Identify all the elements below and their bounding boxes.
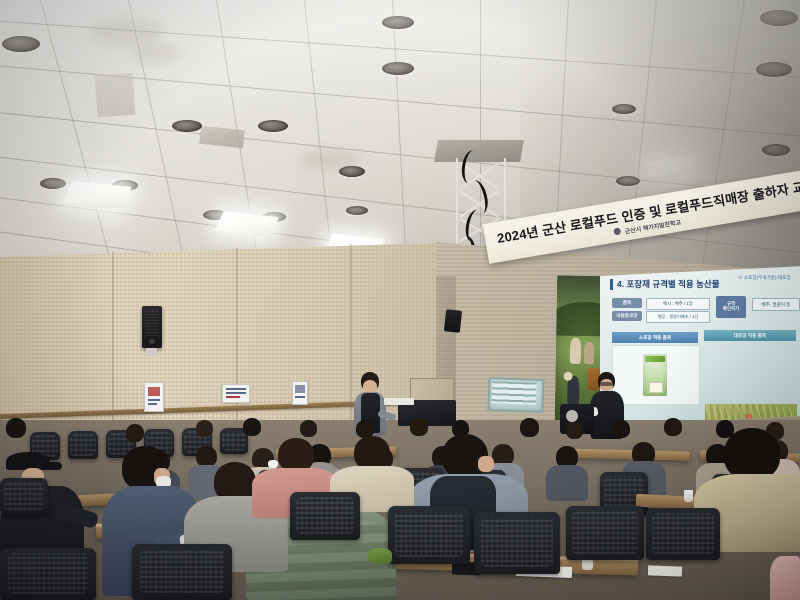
gunsan-city-emblem-icon bbox=[613, 227, 621, 235]
wall-sign-notice bbox=[222, 384, 250, 403]
slide-action-button: 규격 확인하기 bbox=[716, 296, 746, 318]
sign-text-line bbox=[226, 392, 246, 394]
chair[interactable] bbox=[566, 506, 644, 560]
downlight-icon bbox=[346, 206, 368, 215]
audience-head bbox=[243, 418, 261, 436]
sign-text-line bbox=[148, 403, 157, 405]
chair[interactable] bbox=[0, 478, 48, 514]
paper-cup[interactable] bbox=[684, 490, 693, 502]
audience-torso bbox=[546, 465, 588, 501]
bag-top-band bbox=[645, 356, 665, 362]
bag-label bbox=[649, 382, 663, 393]
speaker-bracket bbox=[146, 348, 157, 356]
speaker-tweeter-icon bbox=[149, 339, 155, 344]
slide-right-field: 배추, 얼갈이 등 bbox=[752, 298, 800, 311]
wall-sign-fire-extinguisher bbox=[144, 382, 164, 412]
photo-bagged-vegetable bbox=[643, 354, 667, 396]
piano-keys bbox=[384, 398, 414, 405]
assistant-glasses-icon bbox=[600, 382, 613, 386]
lift-rod bbox=[456, 158, 458, 254]
chair[interactable] bbox=[474, 512, 560, 574]
sign-pictogram bbox=[148, 387, 160, 396]
sign-text-line bbox=[148, 399, 160, 401]
attendee-head bbox=[354, 436, 390, 470]
wall-speaker-right bbox=[444, 309, 462, 333]
downlight-icon bbox=[40, 178, 66, 189]
panel-head-1: 대포장 적용 품목 bbox=[704, 330, 796, 341]
downlight-icon bbox=[172, 120, 202, 132]
wall-speaker bbox=[142, 306, 162, 348]
chair[interactable] bbox=[646, 508, 720, 560]
cap-brim bbox=[38, 462, 62, 470]
slide-title-row: 4. 포장재 규격별 적용 농산물 bbox=[610, 278, 720, 290]
speaker-grill bbox=[145, 310, 159, 336]
slide-tag-1: 내용량/포장 bbox=[612, 311, 642, 321]
sign-text-line bbox=[295, 396, 305, 398]
chair[interactable] bbox=[0, 548, 96, 600]
slide-title-accent bbox=[610, 279, 613, 290]
louver-vent-window bbox=[487, 377, 544, 413]
paper-handout[interactable] bbox=[648, 565, 682, 576]
slide-field-0: 예시 : 배추 / 1망 bbox=[646, 298, 710, 310]
slide-tag-0: 품목 bbox=[612, 298, 642, 308]
audience-head bbox=[6, 418, 26, 438]
wall-sign-evacuation bbox=[292, 381, 308, 405]
panel-head-0: 소포장 적용 품목 bbox=[612, 332, 698, 343]
mural-figure-head bbox=[563, 372, 572, 381]
audience-head bbox=[196, 420, 213, 437]
downlight-icon bbox=[339, 166, 365, 177]
attendee-head bbox=[724, 428, 780, 480]
audience-head bbox=[566, 422, 583, 439]
sign-text-line bbox=[226, 396, 240, 398]
attendee-arm-foreground bbox=[770, 556, 800, 600]
sign-text-line bbox=[226, 388, 246, 390]
slide-field-1: 열무 · 얼갈이배추 / 1단 bbox=[646, 311, 710, 323]
chair[interactable] bbox=[388, 506, 470, 564]
slide-note: ※ 소포장(무게기준)·대포장 bbox=[738, 275, 791, 281]
ceiling-highlight bbox=[0, 0, 800, 120]
projection-screen: 4. 포장재 규격별 적용 농산물 ※ 소포장(무게기준)·대포장 품목 내용량… bbox=[600, 266, 800, 426]
audience-head bbox=[664, 418, 682, 436]
green-item-on-table[interactable] bbox=[368, 548, 392, 564]
attendee-head bbox=[278, 438, 314, 472]
attendee-face bbox=[478, 456, 494, 472]
vent-slats bbox=[492, 381, 537, 405]
sign-pictogram bbox=[295, 385, 305, 393]
mural-figure bbox=[584, 342, 594, 364]
audience-head bbox=[300, 420, 317, 437]
mural-figure bbox=[570, 338, 581, 364]
chair[interactable] bbox=[132, 544, 232, 600]
audience-head bbox=[612, 420, 630, 438]
chair[interactable] bbox=[290, 492, 360, 540]
wall-speaker-assembly bbox=[142, 306, 168, 362]
slide-title: 4. 포장재 규격별 적용 농산물 bbox=[617, 278, 720, 290]
photo-scene: 4. 포장재 규격별 적용 농산물 ※ 소포장(무게기준)·대포장 품목 내용량… bbox=[0, 0, 800, 600]
downlight-icon bbox=[258, 120, 288, 132]
